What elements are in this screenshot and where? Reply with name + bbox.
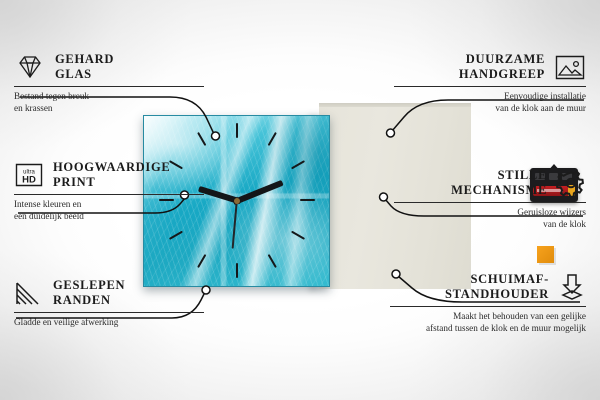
gear-icon bbox=[556, 169, 586, 197]
feature-title-line2: PRINT bbox=[53, 175, 170, 190]
feature-divider bbox=[14, 312, 204, 313]
feature-title: SCHUIMAF- STANDHOUDER bbox=[445, 272, 549, 303]
feature-desc-line2: van de klok bbox=[394, 218, 586, 230]
hand-center-cap bbox=[234, 198, 240, 204]
feature-desc-line1: Gladde en veilige afwerking bbox=[14, 316, 204, 328]
feature-header: GEHARD GLAS bbox=[14, 52, 204, 83]
feature-description: Geruisloze wijzers van de klok bbox=[394, 206, 586, 231]
feature-gehard-glas: GEHARD GLAS Bestand tegen breuk en krass… bbox=[14, 52, 204, 114]
feature-description: Bestand tegen breuk en krassen bbox=[14, 90, 204, 115]
svg-text:HD: HD bbox=[22, 175, 36, 186]
feature-title-line2: STANDHOUDER bbox=[445, 287, 549, 302]
feature-desc-line1: Eenvoudige installatie bbox=[394, 90, 586, 102]
feature-header: SCHUIMAF- STANDHOUDER bbox=[390, 272, 586, 303]
hour-marker bbox=[300, 199, 315, 201]
feature-title-line2: MECHANISME bbox=[451, 183, 547, 198]
feature-title: HOOGWAARDIGE PRINT bbox=[53, 160, 170, 191]
feature-divider bbox=[14, 86, 204, 87]
infographic-stage: GEHARD GLAS Bestand tegen breuk en krass… bbox=[0, 0, 600, 400]
feature-schuimafstandhouder: SCHUIMAF- STANDHOUDER Maakt het behouden… bbox=[390, 272, 586, 334]
feature-desc-line1: Intense kleuren en bbox=[14, 198, 204, 210]
hour-marker bbox=[197, 132, 206, 146]
hour-marker bbox=[291, 231, 305, 240]
feature-stille-mechanisme: STILLE MECHANISME Geruisloze wijzers van… bbox=[394, 168, 586, 230]
feature-divider bbox=[394, 86, 586, 87]
hour-marker bbox=[267, 254, 276, 268]
hour-marker bbox=[236, 263, 238, 278]
hour-marker bbox=[197, 254, 206, 268]
feature-description: Eenvoudige installatie van de klok aan d… bbox=[394, 90, 586, 115]
feature-desc-line1: Maakt het behouden van een gelijke bbox=[390, 310, 586, 322]
hour-marker bbox=[267, 132, 276, 146]
second-hand bbox=[232, 197, 238, 249]
beveled-edges-icon bbox=[14, 280, 44, 306]
hour-marker bbox=[236, 123, 238, 138]
feature-title: STILLE MECHANISME bbox=[451, 168, 547, 199]
feature-description: Gladde en veilige afwerking bbox=[14, 316, 204, 328]
feature-header: DUURZAME HANDGREEP bbox=[394, 52, 586, 83]
feature-desc-line2: afstand tussen de klok en de muur mogeli… bbox=[390, 322, 586, 334]
hour-marker bbox=[291, 160, 305, 169]
feature-desc-line1: Geruisloze wijzers bbox=[394, 206, 586, 218]
feature-divider bbox=[14, 194, 204, 195]
hour-marker bbox=[168, 231, 182, 240]
feature-desc-line1: Bestand tegen breuk bbox=[14, 90, 204, 102]
feature-title-line2: RANDEN bbox=[53, 293, 125, 308]
feature-title-line1: GEHARD bbox=[55, 52, 114, 67]
press-down-arrow-icon bbox=[558, 273, 586, 301]
feature-desc-line2: en krassen bbox=[14, 102, 204, 114]
feature-title-line1: SCHUIMAF- bbox=[445, 272, 549, 287]
feature-title: DUURZAME HANDGREEP bbox=[459, 52, 545, 83]
feature-title-line2: GLAS bbox=[55, 67, 114, 82]
feature-title: GESLEPEN RANDEN bbox=[53, 278, 125, 309]
feature-description: Maakt het behouden van een gelijke afsta… bbox=[390, 310, 586, 335]
feature-description: Intense kleuren en een duidelijk beeld bbox=[14, 198, 204, 223]
foam-spacer-pad bbox=[537, 246, 554, 263]
feature-desc-line2: een duidelijk beeld bbox=[14, 210, 204, 222]
feature-title-line1: HOOGWAARDIGE bbox=[53, 160, 170, 175]
feature-divider bbox=[390, 306, 586, 307]
feature-title-line1: STILLE bbox=[451, 168, 547, 183]
ultra-hd-icon: ultra HD bbox=[14, 162, 44, 188]
feature-title-line1: GESLEPEN bbox=[53, 278, 125, 293]
feature-geslepen-randen: GESLEPEN RANDEN Gladde en veilige afwerk… bbox=[14, 278, 204, 328]
feature-header: STILLE MECHANISME bbox=[394, 168, 586, 199]
feature-duurzame-handgreep: DUURZAME HANDGREEP Eenvoudige installati… bbox=[394, 52, 586, 114]
feature-header: ultra HD HOOGWAARDIGE PRINT bbox=[14, 160, 204, 191]
feature-divider bbox=[394, 202, 586, 203]
feature-desc-line2: van de klok aan de muur bbox=[394, 102, 586, 114]
feature-title-line1: DUURZAME bbox=[459, 52, 545, 67]
feature-title-line2: HANDGREEP bbox=[459, 67, 545, 82]
picture-frame-icon bbox=[554, 54, 586, 81]
feature-header: GESLEPEN RANDEN bbox=[14, 278, 204, 309]
feature-title: GEHARD GLAS bbox=[55, 52, 114, 83]
feature-hoogwaardige-print: ultra HD HOOGWAARDIGE PRINT Intense kleu… bbox=[14, 160, 204, 222]
diamond-icon bbox=[14, 54, 46, 80]
